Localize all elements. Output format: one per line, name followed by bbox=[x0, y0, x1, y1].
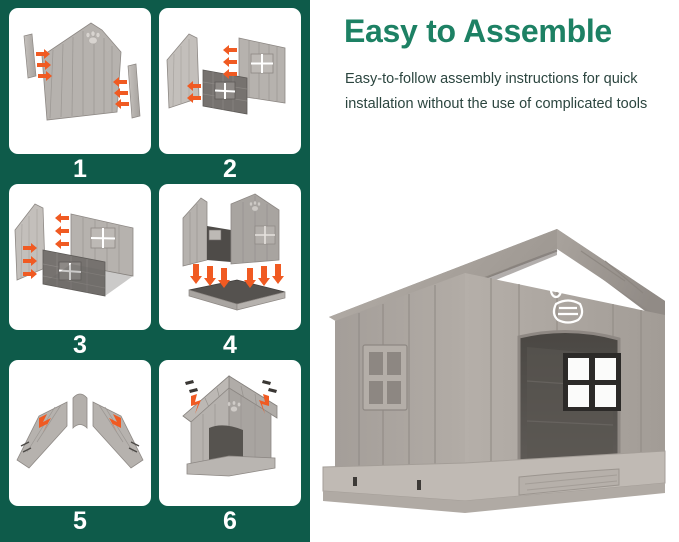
dog-house-illustration bbox=[313, 205, 679, 542]
step-5-illustration bbox=[9, 360, 151, 492]
step-1-illustration bbox=[9, 8, 151, 140]
step-6: 6 bbox=[159, 360, 301, 536]
step-5-card bbox=[9, 360, 151, 506]
step-6-card bbox=[159, 360, 301, 506]
step-4-card bbox=[159, 184, 301, 330]
step-3-number: 3 bbox=[9, 330, 151, 360]
side-window-pane bbox=[369, 381, 383, 404]
infographic-page: 1 bbox=[0, 0, 679, 542]
assembly-steps-board: 1 bbox=[0, 0, 310, 542]
step-6-number: 6 bbox=[159, 506, 301, 536]
step-3-card bbox=[9, 184, 151, 330]
side-window-pane bbox=[387, 352, 401, 375]
side-window-pane bbox=[387, 381, 401, 404]
step-4: 4 bbox=[159, 184, 301, 360]
step-3-illustration bbox=[9, 184, 151, 316]
step-1-number: 1 bbox=[9, 154, 151, 184]
step-2-card bbox=[159, 8, 301, 154]
step-5: 5 bbox=[9, 360, 151, 536]
product-photo bbox=[313, 205, 679, 542]
page-title: Easy to Assemble bbox=[344, 11, 664, 51]
interior-window-pane bbox=[568, 358, 589, 380]
interior-window-pane bbox=[595, 358, 616, 380]
step-2-number: 2 bbox=[159, 154, 301, 184]
step-4-number: 4 bbox=[159, 330, 301, 360]
step-2-illustration bbox=[159, 8, 301, 140]
assembly-arrow bbox=[55, 213, 69, 249]
page-description: Easy-to-follow assembly instructions for… bbox=[345, 67, 667, 117]
step-5-number: 5 bbox=[9, 506, 151, 536]
interior-window-pane bbox=[568, 385, 589, 407]
step-3: 3 bbox=[9, 184, 151, 360]
assembly-arrow bbox=[23, 243, 37, 279]
interior-window-pane bbox=[595, 385, 616, 407]
assembly-steps-grid: 1 bbox=[0, 0, 310, 542]
step-6-illustration bbox=[159, 360, 301, 492]
step-1: 1 bbox=[9, 8, 151, 184]
step-1-card bbox=[9, 8, 151, 154]
step-2: 2 bbox=[159, 8, 301, 184]
side-window-pane bbox=[369, 352, 383, 375]
assembly-arrow bbox=[113, 77, 129, 109]
step-4-illustration bbox=[159, 184, 301, 316]
assembly-arrow bbox=[36, 49, 52, 81]
assembly-arrow bbox=[223, 45, 237, 79]
